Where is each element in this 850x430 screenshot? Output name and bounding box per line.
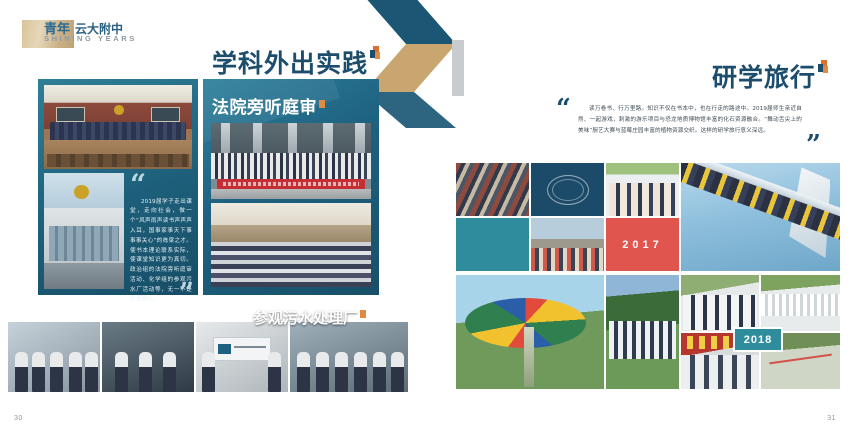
- seal-stamp-icon-right: [818, 60, 829, 73]
- year-2017-label: 2017: [622, 239, 662, 251]
- student-group-photo: [211, 123, 371, 199]
- left-page-number: 30: [14, 415, 23, 422]
- seal-stamp-icon: [370, 46, 381, 59]
- court-photo-card: “ 2019届学子走出课堂，走向社会，做一个“风声雨声读书声声声入耳，国事家事天…: [38, 79, 198, 295]
- grid-photo-swing-ride: [456, 275, 604, 389]
- quote-close-mark: ”: [179, 284, 192, 302]
- left-page-title: 学科外出实践: [212, 44, 381, 80]
- courthouse-exterior-photo: [44, 173, 124, 289]
- courtroom-ceremony-photo: [44, 85, 192, 169]
- grid-block-teal: [456, 218, 529, 271]
- study-tour-photo-grid: 2017: [456, 163, 840, 389]
- grid-photo-assembly-field: [761, 275, 840, 331]
- strip-photo-plant-sign: [196, 322, 288, 392]
- strip-photo-group-listening: [290, 322, 408, 392]
- grid-photo-outdoor-activity: [606, 275, 679, 389]
- strip-photo-facility-tour: [102, 322, 194, 392]
- court-hearing-panel: 法院旁听庭审: [203, 79, 379, 295]
- year-2018-label: 2018: [744, 334, 772, 346]
- brand-logo: 青年云大附中 SHINING YEARS: [22, 18, 162, 52]
- grid-photo-roller-coaster: [681, 163, 840, 271]
- grid-photo-street-scene: [531, 218, 604, 271]
- magazine-spread: 青年云大附中 SHINING YEARS 学科外出实践: [0, 0, 850, 430]
- grid-photo-school-emblem: [531, 163, 604, 216]
- sewage-plant-title: 参观污水处理厂: [253, 307, 366, 328]
- left-quote-block: “ 2019届学子走出课堂，走向社会，做一个“风声雨声读书声声声入耳，国事家事天…: [130, 175, 192, 289]
- court-hearing-panel-title: 法院旁听庭审: [212, 93, 325, 118]
- grid-photo-crowd: [456, 163, 529, 216]
- right-title-text: 研学旅行: [712, 63, 816, 92]
- sewage-plant-title-text: 参观污水处理厂: [253, 309, 358, 327]
- bottom-photo-strip: [8, 322, 408, 392]
- red-banner: [217, 179, 364, 189]
- right-quote-open-mark: “: [556, 100, 569, 118]
- left-page: 青年云大附中 SHINING YEARS 学科外出实践: [0, 0, 425, 430]
- right-page-number: 31: [827, 415, 836, 422]
- court-hearing-title-text: 法院旁听庭审: [212, 98, 317, 118]
- left-title-text: 学科外出实践: [212, 49, 368, 78]
- courtroom-audience-photo: [211, 203, 371, 287]
- mini-seal-icon: [319, 100, 325, 108]
- logo-english-text: SHINING YEARS: [44, 34, 137, 43]
- quote-open-mark: “: [130, 175, 192, 195]
- grid-photo-performance: [681, 275, 759, 331]
- right-page-title: 研学旅行: [712, 58, 829, 94]
- right-quote-close-mark: ”: [806, 136, 819, 154]
- right-quote-text: 读万卷书、行万里路。知识不仅在书本中，也在行走的路途中。2019届师生亲近自然、…: [578, 104, 802, 137]
- grid-photo-students-waving: [606, 163, 679, 216]
- year-2018-badge: 2018: [733, 327, 783, 352]
- grid-block-year-2017: 2017: [606, 218, 679, 271]
- strip-photo-students-reading: [8, 322, 100, 392]
- mini-seal-icon-2: [360, 310, 366, 318]
